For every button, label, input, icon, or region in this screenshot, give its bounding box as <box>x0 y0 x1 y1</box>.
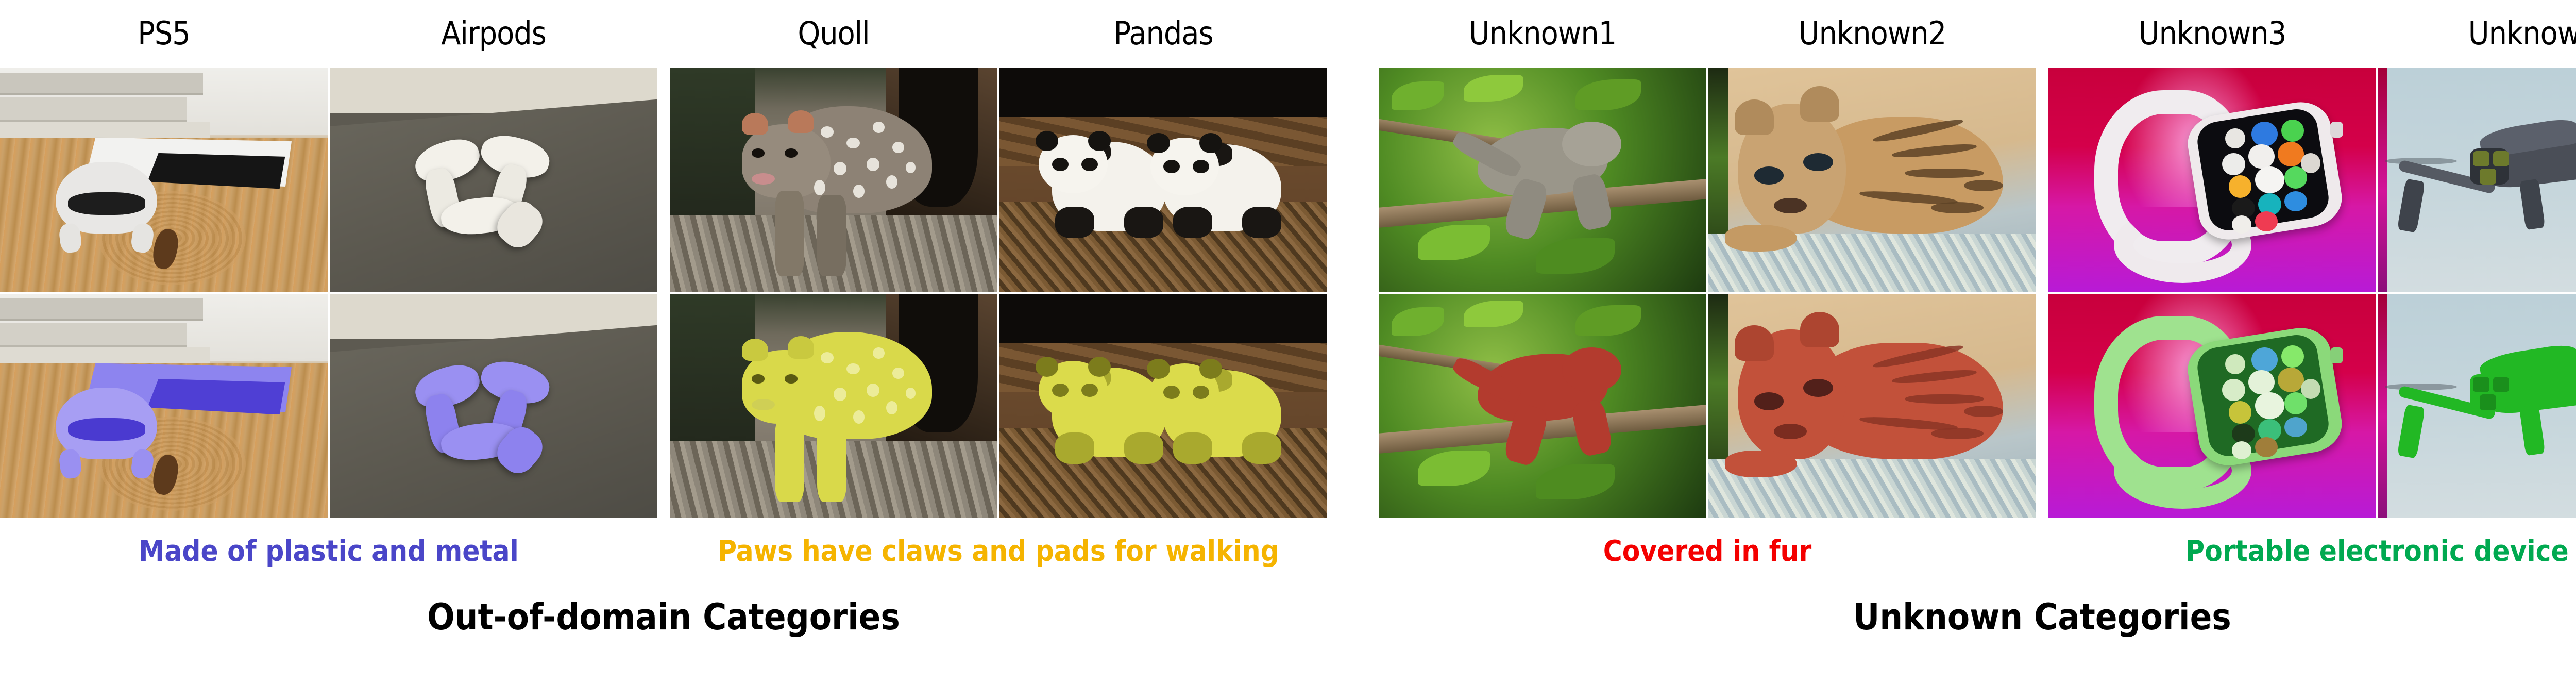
attribute-caption-covered-in-fur: Covered in fur <box>1379 531 2036 572</box>
image-unknown3-original[interactable] <box>2048 68 2376 292</box>
figure-root: PS5 Airpods <box>0 0 2576 683</box>
image-unknown4-mask[interactable] <box>2378 294 2576 518</box>
column-label-airpods: Airpods <box>330 0 657 67</box>
section-title-out-of-domain: Out-of-domain Categories <box>0 593 1327 642</box>
attribute-caption-plastic-metal: Made of plastic and metal <box>0 531 657 572</box>
column-label-unknown4: Unknown4 <box>2378 0 2576 67</box>
column-label-ps5: PS5 <box>0 0 328 67</box>
image-airpods-mask[interactable] <box>330 294 657 518</box>
image-quoll-mask[interactable] <box>670 294 997 518</box>
column-label-unknown3: Unknown3 <box>2048 0 2376 67</box>
image-pandas-mask[interactable] <box>999 294 1327 518</box>
column-label-quoll: Quoll <box>670 0 997 67</box>
image-ps5-mask[interactable] <box>0 294 328 518</box>
image-unknown4-original[interactable] <box>2378 68 2576 292</box>
column-label-unknown1: Unknown1 <box>1379 0 1706 67</box>
image-unknown2-original[interactable] <box>1708 68 2036 292</box>
attribute-caption-paws-claws: Paws have claws and pads for walking <box>670 531 1327 572</box>
attribute-caption-portable-electronic: Portable electronic device <box>2048 531 2576 572</box>
image-unknown3-mask[interactable] <box>2048 294 2376 518</box>
section-title-unknown: Unknown Categories <box>1379 593 2576 642</box>
image-airpods-original[interactable] <box>330 68 657 292</box>
image-unknown2-mask[interactable] <box>1708 294 2036 518</box>
image-ps5-original[interactable] <box>0 68 328 292</box>
column-label-pandas: Pandas <box>999 0 1327 67</box>
column-label-unknown2: Unknown2 <box>1708 0 2036 67</box>
image-unknown1-mask[interactable] <box>1379 294 1706 518</box>
image-pandas-original[interactable] <box>999 68 1327 292</box>
image-quoll-original[interactable] <box>670 68 997 292</box>
image-unknown1-original[interactable] <box>1379 68 1706 292</box>
